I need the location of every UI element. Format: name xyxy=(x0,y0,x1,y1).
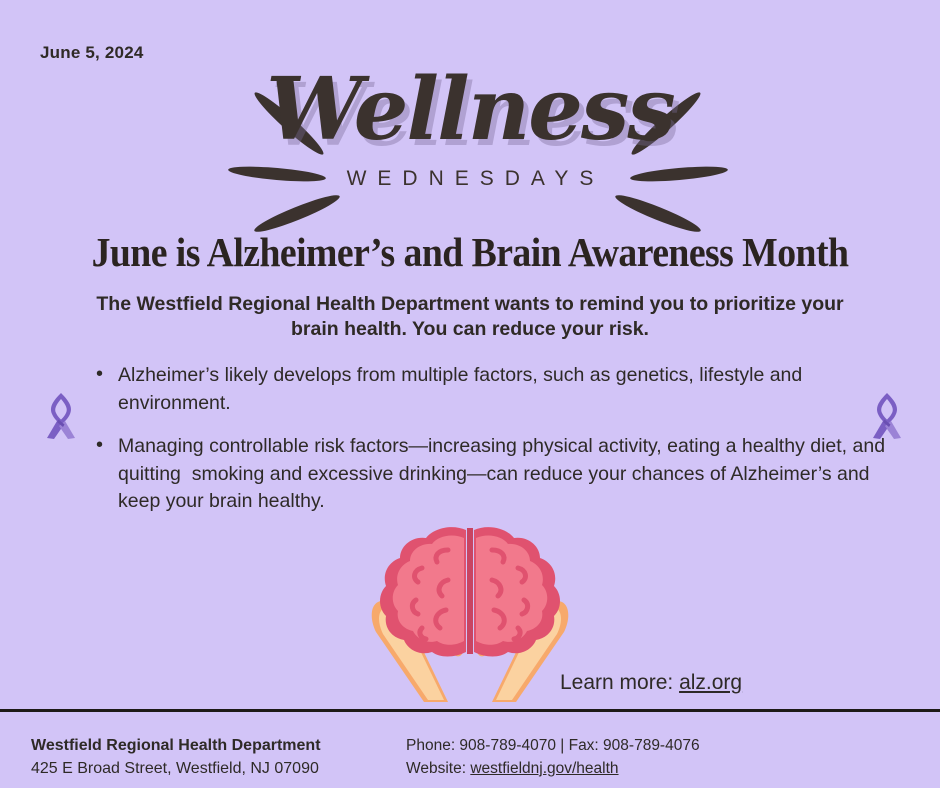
learn-more-text: Learn more: alz.org xyxy=(560,671,742,695)
awareness-ribbon-icon xyxy=(866,388,908,444)
logo-script-text: Wellness xyxy=(0,55,940,165)
logo-subtitle: WEDNESDAYS xyxy=(0,167,940,191)
footer-org-address: 425 E Broad Street, Westfield, NJ 07090 xyxy=(31,757,411,780)
brain-in-hands-icon xyxy=(360,524,580,710)
subheading: The Westfield Regional Health Department… xyxy=(70,292,870,342)
page-title: June is Alzheimer’s and Brain Awareness … xyxy=(38,228,903,276)
learn-more-label: Learn more: xyxy=(560,671,679,694)
alz-org-link[interactable]: alz.org xyxy=(679,671,742,694)
flyer-canvas: June 5, 2024 Wellness WEDNESDAYS June is… xyxy=(0,0,940,788)
footer-website-line: Website: westfieldnj.gov/health xyxy=(406,757,826,780)
key-points-list: Alzheimer’s likely develops from multipl… xyxy=(90,362,908,532)
footer-website-link[interactable]: westfieldnj.gov/health xyxy=(470,760,618,777)
footer-org-name: Westfield Regional Health Department xyxy=(31,734,411,757)
footer-organization: Westfield Regional Health Department 425… xyxy=(31,734,411,780)
list-item: Managing controllable risk factors—incre… xyxy=(118,433,908,516)
wellness-wednesdays-logo: Wellness WEDNESDAYS xyxy=(0,55,940,205)
footer-website-label: Website: xyxy=(406,760,470,777)
list-item: Alzheimer’s likely develops from multipl… xyxy=(118,362,908,417)
footer-phone-fax: Phone: 908-789-4070 | Fax: 908-789-4076 xyxy=(406,734,826,757)
awareness-ribbon-icon xyxy=(40,388,82,444)
footer: Westfield Regional Health Department 425… xyxy=(0,712,940,788)
footer-contact: Phone: 908-789-4070 | Fax: 908-789-4076 … xyxy=(406,734,826,780)
